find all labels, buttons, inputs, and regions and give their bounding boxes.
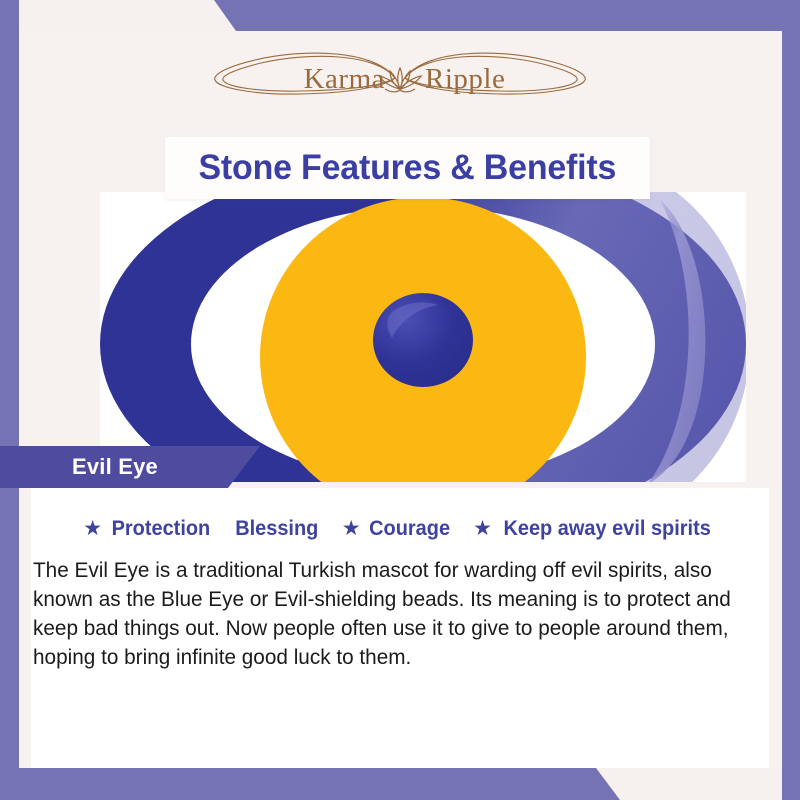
frame-top-bar (214, 0, 800, 31)
page-title: Stone Features & Benefits (199, 148, 617, 188)
star-icon-1: ★ (83, 516, 102, 541)
page-title-panel: Stone Features & Benefits (165, 137, 650, 199)
brand-name-right: Ripple (425, 63, 505, 95)
star-icon-2: ★ (342, 516, 361, 541)
feature-item-blessing: Blessing (236, 517, 319, 541)
frame-left-bar (0, 0, 19, 800)
lotus-flower-icon (379, 68, 421, 92)
description-text: The Evil Eye is a traditional Turkish ma… (33, 556, 737, 672)
infographic-page: Karma Ripple (0, 0, 800, 800)
frame-bottom-bar (0, 768, 620, 800)
feature-item-protection: Protection (111, 517, 210, 541)
brand-name-left: Karma (304, 63, 385, 95)
stone-name-label: Evil Eye (72, 454, 158, 480)
feature-list: ★ Protection Blessing ★ Courage ★ Keep a… (31, 516, 769, 541)
evil-eye-bead-illustration (100, 192, 746, 482)
feature-item-keep-away-evil-spirits: Keep away evil spirits (504, 517, 711, 541)
stone-name-badge: Evil Eye (0, 446, 260, 488)
feature-item-courage: Courage (369, 517, 450, 541)
frame-right-bar (782, 0, 800, 800)
brand-logo: Karma Ripple (0, 42, 800, 114)
star-icon-3: ★ (473, 516, 492, 541)
